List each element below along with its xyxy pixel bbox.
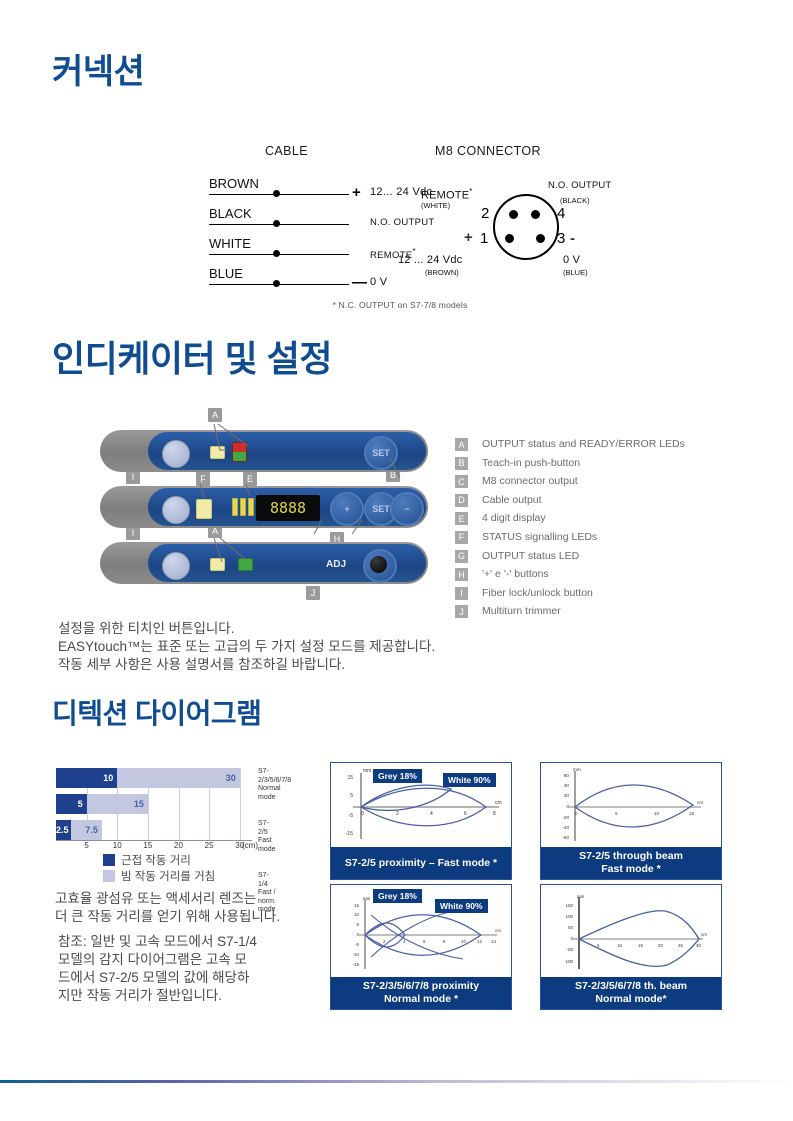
svg-text:2: 2 — [396, 811, 399, 817]
annotation-grey: Grey 18% — [373, 769, 422, 783]
curve-plot: 60 40 20 0 -20 -40 -60 mm 0 5 10 15 cm — [541, 763, 721, 847]
status-led-bar — [248, 498, 254, 516]
svg-text:6: 6 — [423, 939, 426, 944]
bar-proximity-range: 10 — [56, 768, 117, 788]
teach-in-button[interactable]: SET — [364, 436, 398, 470]
pin-1-dot — [505, 234, 514, 243]
bar-proximity-range: 5 — [56, 794, 87, 814]
legend-item: H'+' e '-' buttons — [455, 567, 705, 586]
sensor-body-bottom: ADJ — [100, 542, 428, 584]
sensor-front-panel: ADJ — [148, 544, 426, 582]
svg-text:15: 15 — [689, 811, 695, 816]
model-note: 참조: 일반 및 고속 모드에서 S7-1/4 모델의 감지 다이어그램은 고속… — [58, 933, 257, 1005]
m8-zero-v-wire: (BLUE) — [563, 268, 588, 277]
m8-zero-v-label: 0 V — [563, 254, 580, 266]
svg-text:30: 30 — [696, 943, 701, 948]
cable-title: CABLE — [265, 144, 308, 158]
sensor-body-top: SET — [100, 430, 428, 472]
svg-text:mm: mm — [577, 894, 585, 899]
svg-text:-15: -15 — [353, 962, 360, 967]
axis-unit: (cm) — [242, 841, 258, 850]
ready-led — [238, 558, 253, 571]
legend-key: J — [455, 605, 468, 618]
svg-text:5: 5 — [615, 811, 618, 816]
svg-text:12: 12 — [477, 939, 482, 944]
legend-text: '+' e '-' buttons — [482, 568, 549, 580]
legend-item: GOUTPUT status LED — [455, 549, 705, 568]
axis-tick: 5 — [84, 841, 88, 850]
svg-text:150: 150 — [566, 903, 574, 908]
sensor-body-middle: 8888 + SET − — [100, 486, 428, 528]
diagram-caption: S7-2/5 through beam Fast mode * — [541, 847, 721, 879]
legend-item: E4 digit display — [455, 511, 705, 530]
svg-text:10: 10 — [617, 943, 622, 948]
svg-text:60: 60 — [564, 773, 570, 778]
footer-rule — [0, 1080, 793, 1083]
svg-text:0: 0 — [575, 811, 578, 816]
plus-button[interactable]: + — [330, 492, 364, 526]
pin-number-1: 1 — [480, 230, 488, 247]
teach-in-description: 설정을 위한 티치인 버튼입니다. EASYtouch™는 표준 또는 고급의 … — [58, 620, 435, 674]
sensor-illustration: A B E F G H I I A J SET — [100, 408, 440, 603]
axis-tick: 30 — [235, 841, 244, 850]
wire-terminal-dot — [273, 220, 280, 227]
legend-item: CM8 connector output — [455, 474, 705, 493]
legend-label-proximity: 근접 작동 거리 — [121, 852, 191, 868]
legend-key: B — [455, 457, 468, 470]
svg-text:cm: cm — [495, 800, 502, 806]
output-status-led — [210, 446, 225, 459]
curve-svg: 60 40 20 0 -20 -40 -60 mm 0 5 10 15 cm — [541, 763, 721, 847]
svg-text:2: 2 — [383, 939, 386, 944]
pin-number-2: 2 — [481, 205, 489, 222]
indicator-legend-list: AOUTPUT status and READY/ERROR LEDs BTea… — [455, 437, 705, 623]
legend-text: STATUS signalling LEDs — [482, 531, 597, 543]
legend-text: Teach-in push-button — [482, 457, 580, 469]
datasheet-page: 커넥션 CABLE M8 CONNECTOR BROWN + 12... 24 … — [0, 0, 793, 1121]
wire-row: BLUE — 0 V — [195, 268, 395, 296]
trimmer-knob-icon[interactable] — [370, 556, 387, 573]
fiber-description: 고효율 광섬유 또는 액세서리 렌즈는 더 큰 작동 거리를 얻기 위해 사용됩… — [55, 890, 280, 926]
annotation-grey: Grey 18% — [373, 889, 422, 903]
bar-chart-legend: 근접 작동 거리 빔 작동 거리를 거침 — [103, 852, 215, 884]
detection-diagram-card: 15 10 5 0 -5 -10 -15 mm 2 4 6 8 10 12 14… — [330, 884, 512, 1010]
svg-text:0: 0 — [361, 811, 364, 817]
legend-text: Cable output — [482, 494, 542, 506]
four-digit-display: 8888 — [256, 495, 320, 521]
svg-text:-10: -10 — [353, 952, 360, 957]
axis-tick: 15 — [143, 841, 152, 850]
display-value: 8888 — [270, 501, 306, 516]
pin-3-dot — [536, 234, 545, 243]
svg-text:4: 4 — [403, 939, 406, 944]
pin-2-dot — [509, 210, 518, 219]
legend-swatch-beam — [103, 870, 115, 882]
legend-item: BTeach-in push-button — [455, 456, 705, 475]
legend-item: JMultiturn trimmer — [455, 604, 705, 623]
m8-no-output-wire: (BLACK) — [560, 196, 590, 205]
connection-footnote: * N.C. OUTPUT on S7-7/8 models — [195, 300, 605, 310]
axis-tick: 10 — [113, 841, 122, 850]
svg-text:5: 5 — [597, 943, 600, 948]
legend-key: A — [455, 438, 468, 451]
svg-text:10: 10 — [654, 811, 660, 816]
m8-vdc-label: 12 ... 24 Vdc — [398, 254, 462, 266]
svg-text:5: 5 — [350, 793, 353, 799]
lens-icon — [162, 552, 190, 580]
pin-number-4: 4 — [557, 205, 565, 222]
status-signalling-leds — [232, 498, 254, 516]
wire-terminal-dot — [273, 250, 280, 257]
svg-text:8: 8 — [443, 939, 446, 944]
annotation-white: White 90% — [443, 773, 496, 787]
svg-text:25: 25 — [678, 943, 683, 948]
callout-a-top: A — [208, 408, 222, 422]
legend-text: OUTPUT status LED — [482, 550, 579, 562]
page-title-connection: 커넥션 — [52, 44, 144, 93]
svg-text:40: 40 — [564, 783, 570, 788]
pin3-minus-sign: - — [570, 230, 575, 247]
detection-diagram-card: 60 40 20 0 -20 -40 -60 mm 0 5 10 15 cm S… — [540, 762, 722, 880]
lens-icon — [162, 496, 190, 524]
svg-text:10: 10 — [461, 939, 466, 944]
svg-text:cm: cm — [697, 800, 703, 805]
legend-text: Multiturn trimmer — [482, 605, 561, 617]
callout-j: J — [306, 586, 320, 600]
ready-error-led — [232, 442, 247, 462]
connection-diagram: CABLE M8 CONNECTOR BROWN + 12... 24 Vdc … — [195, 140, 605, 315]
minus-button[interactable]: − — [390, 492, 424, 526]
svg-text:cm: cm — [701, 932, 707, 937]
callout-e: E — [243, 472, 257, 486]
legend-text: Fiber lock/unlock button — [482, 587, 593, 599]
m8-title: M8 CONNECTOR — [435, 144, 541, 158]
svg-text:-5: -5 — [355, 942, 359, 947]
callout-i-upper: I — [126, 470, 140, 484]
wire-function: N.O. OUTPUT — [370, 217, 435, 228]
svg-text:-40: -40 — [562, 825, 569, 830]
m8-connector-pinout: 2 4 1 3 + - REMOTE* (WHITE) N.O. OUTPUT … — [433, 172, 605, 292]
legend-label-beam: 빔 작동 거리를 거침 — [121, 868, 215, 884]
wire-name: BLUE — [209, 266, 243, 281]
svg-text:mm: mm — [573, 767, 581, 772]
callout-f: F — [196, 472, 210, 486]
chart-x-axis: (cm) 51015202530 — [56, 840, 252, 852]
legend-key: G — [455, 550, 468, 563]
wire-name: BLACK — [209, 206, 252, 221]
legend-entry: 빔 작동 거리를 거침 — [103, 868, 215, 884]
wire-terminal-dot — [273, 280, 280, 287]
page-title-indicator: 인디케이터 및 설정 — [52, 330, 332, 382]
svg-text:-100: -100 — [564, 959, 573, 964]
wire-row: BLACK N.O. OUTPUT — [195, 208, 395, 236]
svg-text:15: 15 — [354, 903, 359, 908]
m8-remote-wire: (WHITE) — [421, 201, 450, 210]
detection-diagram-card: 150 100 50 0 -50 -100 mm 5 10 15 20 25 3… — [540, 884, 722, 1010]
wire-row: BROWN + 12... 24 Vdc — [195, 178, 395, 206]
status-led-bar — [240, 498, 246, 516]
svg-text:10: 10 — [354, 912, 359, 917]
curve-plot: 15 5 -5 -15 mm 0 2 4 6 8 cm Grey 18% Whi… — [331, 763, 511, 847]
diagram-caption: S7-2/5 proximity – Fast mode * — [331, 847, 511, 879]
legend-key: H — [455, 568, 468, 581]
curve-plot: 15 10 5 0 -5 -10 -15 mm 2 4 6 8 10 12 14… — [331, 885, 511, 977]
pin1-plus-sign: + — [464, 229, 473, 246]
svg-text:mm: mm — [363, 896, 371, 901]
svg-text:50: 50 — [568, 925, 573, 930]
curve-plot: 150 100 50 0 -50 -100 mm 5 10 15 20 25 3… — [541, 885, 721, 977]
svg-text:0: 0 — [566, 804, 569, 809]
output-status-led — [196, 499, 212, 519]
legend-text: OUTPUT status and READY/ERROR LEDs — [482, 438, 685, 450]
svg-text:15: 15 — [638, 943, 643, 948]
axis-tick: 20 — [174, 841, 183, 850]
legend-key: D — [455, 494, 468, 507]
legend-swatch-proximity — [103, 854, 115, 866]
svg-text:-50: -50 — [567, 947, 574, 952]
svg-text:15: 15 — [347, 775, 353, 781]
svg-text:14: 14 — [491, 939, 496, 944]
svg-text:mm: mm — [363, 768, 371, 774]
legend-key: E — [455, 512, 468, 525]
wire-symbol: — — [352, 274, 367, 291]
axis-tick: 25 — [205, 841, 214, 850]
lens-icon — [162, 440, 190, 468]
legend-item: DCable output — [455, 493, 705, 512]
m8-no-output-label: N.O. OUTPUT — [548, 180, 611, 191]
svg-text:4: 4 — [430, 811, 433, 817]
pin-4-dot — [531, 210, 540, 219]
legend-key: I — [455, 587, 468, 600]
pin-number-3: 3 — [557, 230, 565, 247]
sensor-front-panel: 8888 + SET − — [148, 488, 426, 526]
status-led-bar — [232, 498, 238, 516]
m8-remote-label: REMOTE* — [421, 187, 473, 202]
page-title-detection: 디텍션 다이어그램 — [52, 692, 261, 732]
wire-name: WHITE — [209, 236, 251, 251]
detection-diagram-card: 15 5 -5 -15 mm 0 2 4 6 8 cm Grey 18% Whi… — [330, 762, 512, 880]
svg-text:-5: -5 — [349, 813, 354, 819]
legend-item: AOUTPUT status and READY/ERROR LEDs — [455, 437, 705, 456]
gridline — [240, 768, 241, 840]
svg-text:100: 100 — [566, 914, 574, 919]
legend-text: 4 digit display — [482, 512, 546, 524]
callout-i-lower: I — [126, 526, 140, 540]
svg-text:6: 6 — [464, 811, 467, 817]
sensor-front-panel: SET — [148, 432, 426, 470]
wire-row: WHITE REMOTE* — [195, 238, 395, 266]
wire-terminal-dot — [273, 190, 280, 197]
legend-key: C — [455, 475, 468, 488]
svg-text:20: 20 — [564, 793, 570, 798]
operating-distance-bar-chart: 30 10 S7-2/3/5/6/7/8 Normal mode 15 5 S7… — [56, 768, 326, 846]
legend-text: M8 connector output — [482, 475, 578, 487]
m8-vdc-wire: (BROWN) — [425, 268, 459, 277]
svg-text:-20: -20 — [562, 815, 569, 820]
svg-text:20: 20 — [658, 943, 663, 948]
svg-text:8: 8 — [493, 811, 496, 817]
svg-text:5: 5 — [357, 922, 360, 927]
output-status-led — [210, 558, 225, 571]
svg-text:-60: -60 — [562, 835, 569, 840]
legend-item: FSTATUS signalling LEDs — [455, 530, 705, 549]
adj-label: ADJ — [326, 559, 346, 570]
wire-function: 0 V — [370, 276, 387, 288]
connector-body-icon — [493, 194, 559, 260]
bar-proximity-range: 2.5 — [56, 820, 71, 840]
bar-model-label: S7-2/5 Fast mode — [258, 820, 276, 854]
wire-symbol: + — [352, 184, 361, 201]
curve-svg: 150 100 50 0 -50 -100 mm 5 10 15 20 25 3… — [541, 885, 721, 977]
svg-text:cm: cm — [495, 928, 501, 933]
legend-item: IFiber lock/unlock button — [455, 586, 705, 605]
bar-model-label: S7-2/3/5/6/7/8 Normal mode — [258, 768, 291, 802]
legend-key: F — [455, 531, 468, 544]
diagram-caption: S7-2/3/5/6/7/8 proximity Normal mode * — [331, 977, 511, 1009]
svg-text:-15: -15 — [346, 831, 353, 837]
legend-entry: 근접 작동 거리 — [103, 852, 215, 868]
wire-name: BROWN — [209, 176, 259, 191]
annotation-white: White 90% — [435, 899, 488, 913]
diagram-caption: S7-2/3/5/6/7/8 th. beam Normal mode* — [541, 977, 721, 1009]
